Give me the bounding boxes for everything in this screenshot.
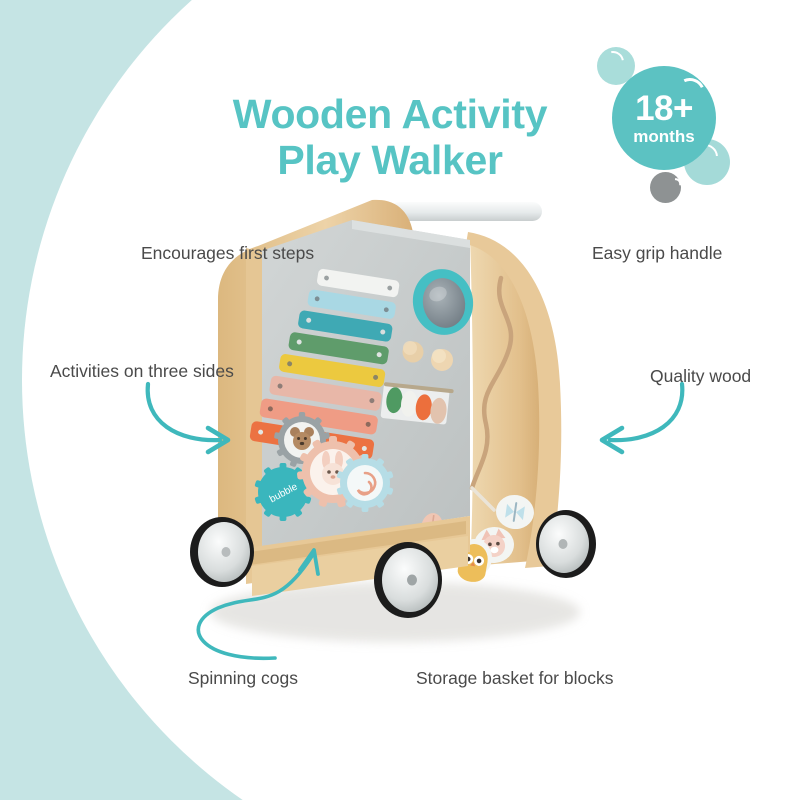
age-badge-unit: months — [633, 128, 694, 145]
feature-label-spinning-cogs: Spinning cogs — [188, 668, 298, 689]
age-badge: 18+ months — [612, 66, 716, 170]
wheel-rear-right — [536, 510, 596, 578]
arrow-right-to-quality-wood — [572, 378, 692, 458]
title-line-2: Play Walker — [180, 138, 600, 184]
feature-label-easy-grip-handle: Easy grip handle — [592, 243, 722, 264]
arrow-left-to-activities — [138, 378, 258, 458]
feature-label-encourages-first-steps: Encourages first steps — [141, 243, 314, 264]
page-title: Wooden Activity Play Walker — [180, 92, 600, 184]
abacus-beads — [380, 382, 453, 425]
arrow-bottom-to-storage-basket — [160, 530, 330, 670]
feature-label-storage-basket: Storage basket for blocks — [416, 668, 613, 689]
walker-handle-bar — [390, 202, 542, 221]
title-line-1: Wooden Activity — [180, 92, 600, 138]
decorative-bubble-gray-icon — [650, 172, 681, 203]
infographic-canvas: bubble — [0, 0, 800, 800]
wheel-front-right — [374, 542, 442, 618]
